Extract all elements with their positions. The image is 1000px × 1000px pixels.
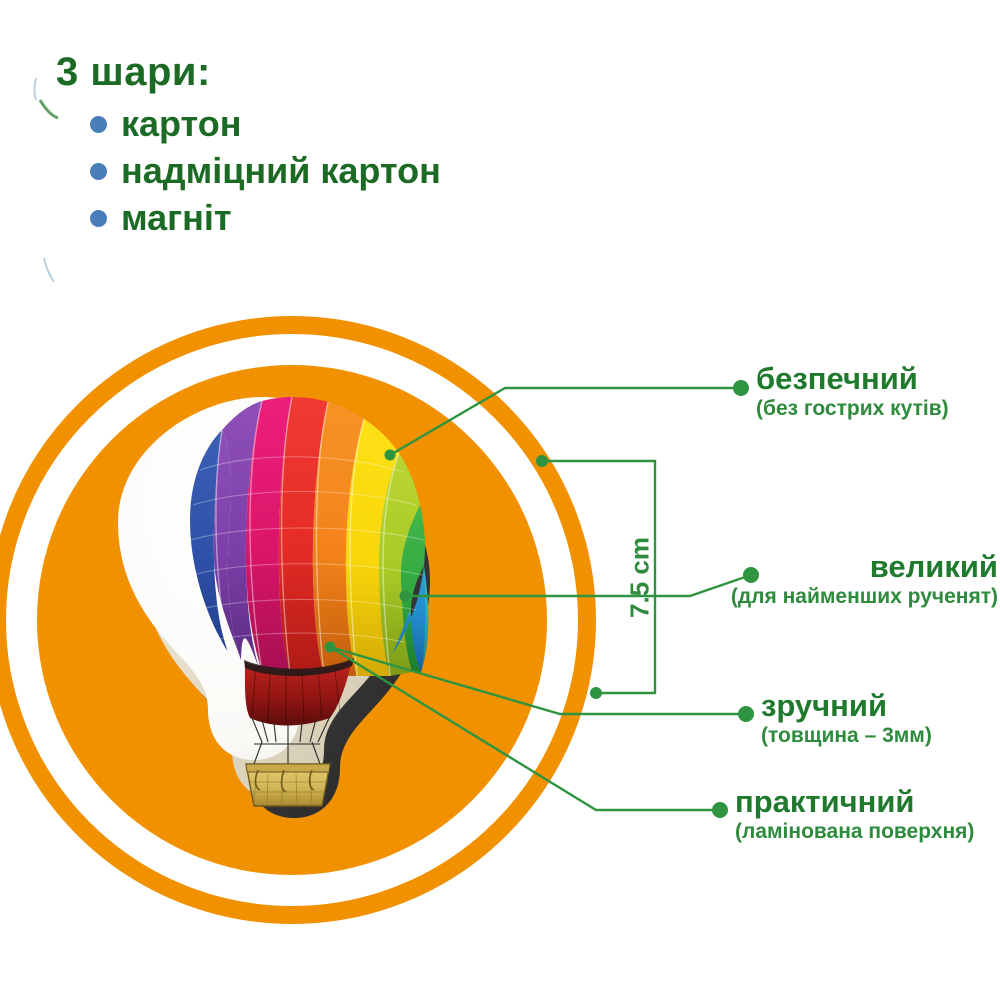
- callout-big: великий (для найменших рученят): [0, 551, 998, 609]
- layer-ultra-card: [142, 437, 414, 800]
- list-item: магніт: [90, 200, 441, 236]
- callout-safe-title: безпечний: [756, 363, 949, 396]
- bullet-icon: [90, 116, 107, 133]
- badge-outer-ring: [0, 325, 587, 915]
- balloon-skirt: [245, 660, 352, 726]
- callout-handy-title: зручний: [761, 690, 932, 723]
- badge-disc: [37, 365, 547, 875]
- callout-practical: практичний (ламінована поверхня): [735, 786, 974, 844]
- callout-safe: безпечний (без гострих кутів): [756, 363, 949, 421]
- bullet-icon: [90, 210, 107, 227]
- layer-magnet: [158, 455, 430, 818]
- bullet-icon: [90, 163, 107, 180]
- dot-safe: [733, 380, 749, 396]
- layer-label-ultra-card: надміцний картон: [121, 153, 441, 189]
- dimension-value: 7.5 cm: [625, 518, 656, 638]
- layer-label-magnet: магніт: [121, 200, 232, 236]
- list-item: надміцний картон: [90, 153, 441, 189]
- balloon-basket: [246, 764, 330, 806]
- poster-canvas: 3 шари: картон надміцний картон магніт б…: [0, 0, 1000, 1000]
- callout-big-sub: (для найменших рученят): [0, 585, 998, 609]
- callout-practical-title: практичний: [735, 786, 974, 819]
- callout-handy-sub: (товщина – 3мм): [761, 724, 932, 748]
- page-title: 3 шари:: [56, 52, 441, 92]
- callout-safe-sub: (без гострих кутів): [756, 397, 949, 421]
- dot-handy: [738, 706, 754, 722]
- callout-handy: зручний (товщина – 3мм): [761, 690, 932, 748]
- layer-label-card: картон: [121, 106, 241, 142]
- leader-line-practical: [330, 647, 716, 810]
- list-item: картон: [90, 106, 441, 142]
- leader-line-handy: [330, 647, 742, 714]
- callout-big-title: великий: [0, 551, 998, 584]
- leader-line-safe: [390, 388, 737, 455]
- layers-header: 3 шари: картон надміцний картон магніт: [56, 52, 441, 247]
- callout-practical-sub: (ламінована поверхня): [735, 820, 974, 844]
- layers-list: картон надміцний картон магніт: [90, 106, 441, 236]
- dot-practical: [712, 802, 728, 818]
